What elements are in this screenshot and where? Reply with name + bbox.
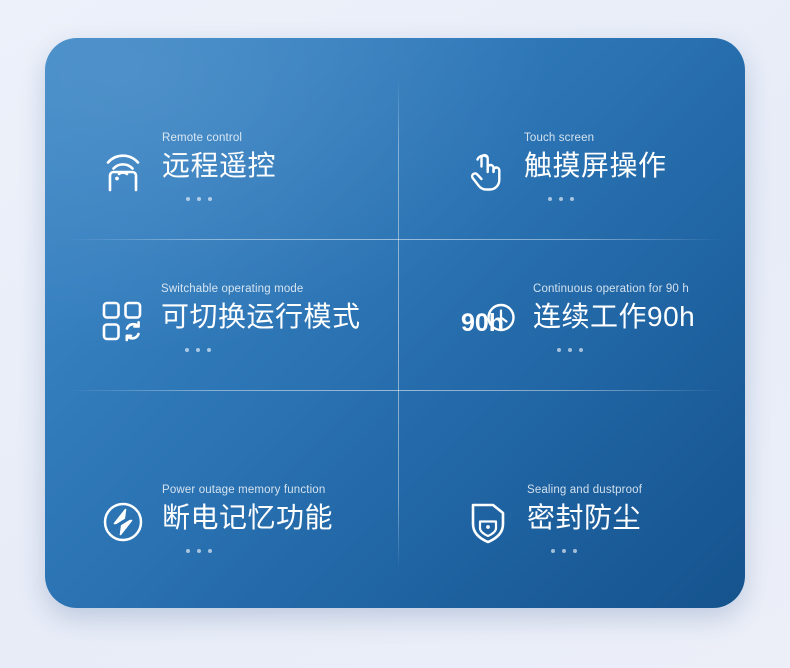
feature-cell-continuous-operation: 90h Continuous operation for 90 h 连续工作90… — [398, 239, 745, 390]
feature-english-label: Sealing and dustproof — [527, 483, 642, 497]
feature-cell-remote-control: Remote control 远程遥控 — [45, 38, 398, 239]
feature-more-dots[interactable] — [557, 348, 695, 352]
feature-panel: Remote control 远程遥控 — [45, 38, 745, 608]
ninety-hour-clock-icon: 90h — [461, 298, 517, 344]
feature-english-label: Remote control — [162, 131, 276, 145]
feature-more-dots[interactable] — [186, 197, 276, 201]
feature-cell-touch-screen: Touch screen 触摸屏操作 — [398, 38, 745, 239]
feature-chinese-title: 远程遥控 — [162, 149, 276, 183]
feature-chinese-title: 连续工作90h — [533, 300, 695, 334]
touch-screen-hand-icon — [462, 147, 508, 193]
feature-english-label: Continuous operation for 90 h — [533, 282, 695, 296]
feature-english-label: Touch screen — [524, 131, 667, 145]
sealing-dustproof-shield-icon — [465, 499, 511, 545]
feature-cell-switchable-mode: Switchable operating mode 可切换运行模式 — [45, 239, 398, 390]
feature-more-dots[interactable] — [186, 549, 333, 553]
power-outage-memory-icon — [100, 499, 146, 545]
feature-chinese-title: 触摸屏操作 — [524, 149, 667, 183]
feature-cell-sealing-dustproof: Sealing and dustproof 密封防尘 — [398, 390, 745, 608]
switchable-mode-grid-icon — [99, 298, 145, 344]
feature-cell-power-outage-memory: Power outage memory function 断电记忆功能 — [45, 390, 398, 608]
feature-more-dots[interactable] — [548, 197, 667, 201]
svg-text:90h: 90h — [461, 309, 504, 337]
page-root: Remote control 远程遥控 — [0, 0, 790, 668]
feature-chinese-title: 可切换运行模式 — [161, 300, 361, 334]
feature-english-label: Power outage memory function — [162, 483, 333, 497]
feature-chinese-title: 密封防尘 — [527, 501, 642, 535]
feature-grid: Remote control 远程遥控 — [45, 38, 745, 608]
feature-chinese-title: 断电记忆功能 — [162, 501, 333, 535]
feature-more-dots[interactable] — [185, 348, 361, 352]
feature-more-dots[interactable] — [551, 549, 642, 553]
remote-control-icon — [100, 147, 146, 193]
feature-english-label: Switchable operating mode — [161, 282, 361, 296]
